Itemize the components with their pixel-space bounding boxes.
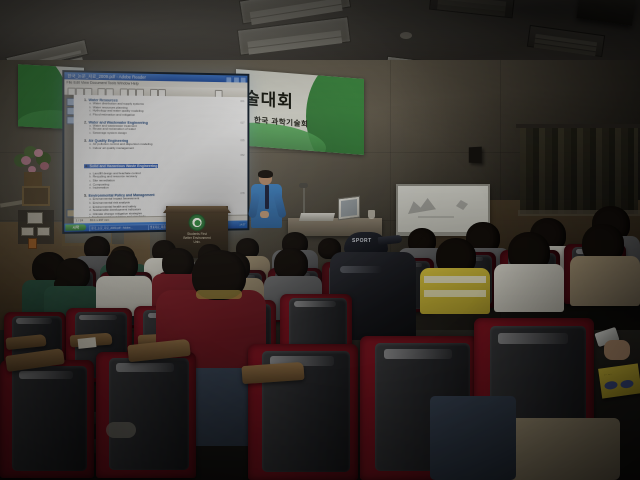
collar	[196, 290, 242, 299]
shirt-stripe	[424, 276, 486, 283]
doc-section: 2.Water and Wastewater Engineering 017 a…	[84, 120, 245, 136]
wall-speaker	[469, 147, 482, 164]
section-item: d.Flood estimation and mitigation	[89, 113, 244, 118]
attendee-hand	[604, 340, 630, 360]
ceiling-air-vent	[527, 25, 605, 57]
presenter	[250, 171, 284, 231]
section-page-number: 078	[240, 192, 244, 195]
ceiling-projector	[576, 0, 635, 26]
presenter-hand	[260, 211, 269, 218]
presenter-hair	[258, 170, 273, 178]
smoke-detector	[400, 32, 412, 39]
switch-plate[interactable]	[37, 227, 50, 236]
taskbar-window-button[interactable]: 한국_논문_자료_2009.pdf - Adobe...	[89, 224, 149, 232]
podium-label: Students First Better Environment Univ.	[166, 232, 228, 244]
section-heading-selected: 4.Solid and Hazardous Waste Engineering	[84, 164, 158, 168]
attendee-torso	[570, 256, 640, 306]
pdf-page-content: 1.Water Resources 001 a.Water distributi…	[84, 98, 245, 215]
fire-alarm[interactable]	[28, 238, 37, 249]
laptop-keyboard[interactable]	[299, 213, 335, 221]
presenter-necktie	[265, 185, 269, 209]
microphone-icon	[299, 183, 308, 188]
university-emblem-icon	[189, 214, 206, 231]
shirt-stripe	[424, 290, 486, 297]
conference-banner-right: 술대회 한국 과학기술회	[236, 69, 364, 155]
window-curtain[interactable]	[520, 128, 638, 214]
ceiling-light-fixture	[239, 0, 351, 24]
section-item: b.Indoor air quality management	[89, 147, 244, 151]
system-tray-clock[interactable]: 14:37	[238, 222, 246, 227]
attendee-jeans	[430, 396, 516, 480]
auditorium-seat[interactable]	[96, 352, 196, 478]
attendee-shoe	[106, 422, 136, 438]
cap-logo-text: SPORT	[352, 238, 372, 244]
lecture-hall-photo: 2 일시 술대회 한국 과학기술회 한국_논문_자료_2009.pdf - Ad…	[0, 0, 640, 480]
banner-title: 술대회	[244, 84, 294, 113]
page-size-readout: 80.1 x 297 mm	[90, 218, 109, 222]
ceiling-air-vent	[429, 0, 515, 18]
doc-section: 1.Water Resources 001 a.Water distributi…	[84, 98, 245, 118]
doc-section-highlighted: 4.Solid and Hazardous Waste Engineering …	[84, 154, 245, 191]
pdf-page-view[interactable]: 1.Water Resources 001 a.Water distributi…	[74, 95, 248, 224]
box-label: ·· ···	[604, 371, 612, 377]
laptop-screen	[338, 196, 360, 221]
flower-arrangement	[12, 140, 58, 192]
auditorium-seat[interactable]	[0, 360, 94, 478]
paper-cup	[368, 210, 375, 219]
section-item: c.Sewerage system design	[89, 132, 244, 136]
attendee-torso	[494, 264, 564, 312]
ceiling-light-fixture	[237, 16, 351, 55]
section-page-number: 017	[240, 122, 244, 125]
notepad	[78, 337, 97, 349]
section-page-number: 001	[240, 100, 244, 103]
section-item: e.Incineration	[89, 185, 244, 190]
switch-plate[interactable]	[27, 212, 43, 224]
attendee-khaki-legs	[500, 418, 620, 480]
doc-section: 3.Air Quality Engineering 035 a.Air poll…	[84, 139, 245, 150]
page-indicator: 1 / 24	[76, 218, 83, 222]
wall-plaque	[22, 186, 50, 206]
yellow-product-box: ·· ···	[598, 363, 640, 398]
attendee-black-cap: SPORT	[344, 228, 400, 254]
section-page-number: 035	[240, 139, 244, 142]
section-page-number: 052	[240, 154, 244, 157]
switch-plate[interactable]	[21, 227, 34, 236]
start-button[interactable]: 시작	[65, 224, 86, 231]
pdf-navigation-pane[interactable]	[64, 95, 73, 224]
